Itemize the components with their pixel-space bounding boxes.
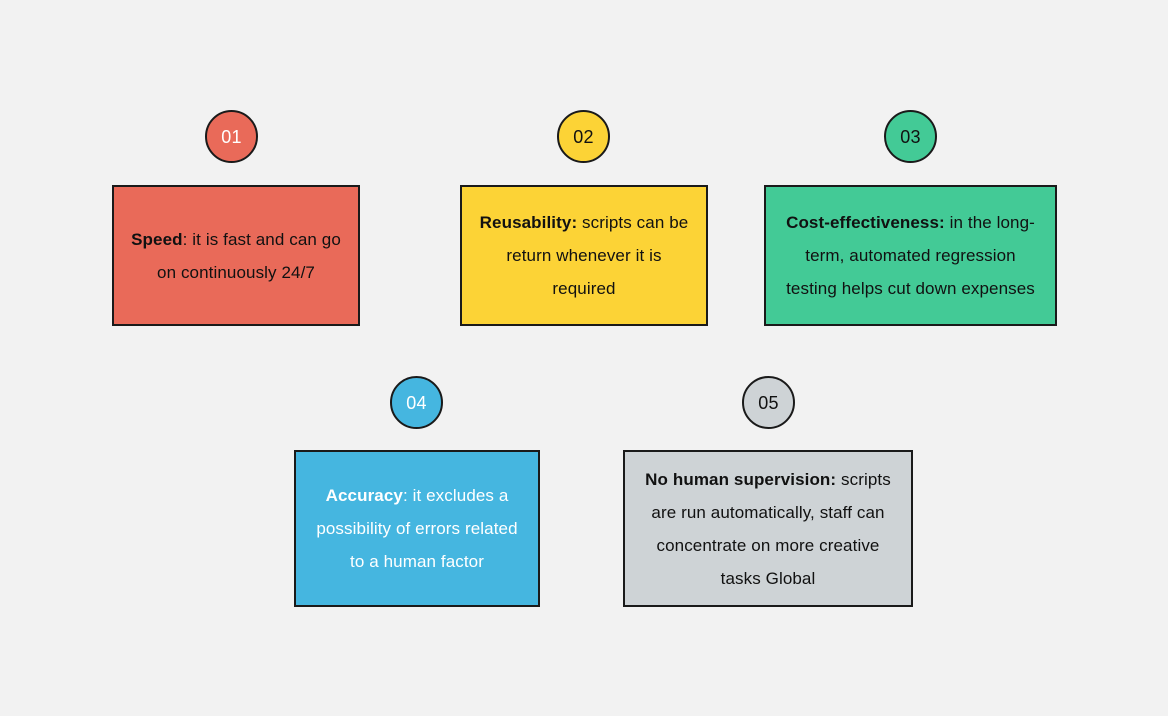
card-02-lead: Reusability bbox=[480, 213, 572, 232]
diagram-canvas: 01 Speed: it is fast and can go on conti… bbox=[0, 0, 1168, 716]
card-02[interactable]: Reusability: scripts can be return whene… bbox=[460, 185, 708, 326]
badge-02-label: 02 bbox=[573, 128, 593, 146]
card-04[interactable]: Accuracy: it excludes a possibility of e… bbox=[294, 450, 540, 607]
badge-05-label: 05 bbox=[758, 394, 778, 412]
card-01[interactable]: Speed: it is fast and can go on continuo… bbox=[112, 185, 360, 326]
card-03[interactable]: Cost-effectiveness: in the long-term, au… bbox=[764, 185, 1057, 326]
badge-05[interactable]: 05 bbox=[742, 376, 795, 429]
badge-02[interactable]: 02 bbox=[557, 110, 610, 163]
badge-03[interactable]: 03 bbox=[884, 110, 937, 163]
card-04-lead: Accuracy bbox=[326, 486, 403, 505]
card-04-text: Accuracy: it excludes a possibility of e… bbox=[308, 479, 526, 578]
badge-03-label: 03 bbox=[900, 128, 920, 146]
card-03-text: Cost-effectiveness: in the long-term, au… bbox=[778, 206, 1043, 305]
badge-01[interactable]: 01 bbox=[205, 110, 258, 163]
card-03-lead: Cost-effectiveness bbox=[786, 213, 939, 232]
badge-04-label: 04 bbox=[406, 394, 426, 412]
card-05-lead: No human supervision: bbox=[645, 470, 836, 489]
card-05[interactable]: No human supervision: scripts are run au… bbox=[623, 450, 913, 607]
badge-01-label: 01 bbox=[221, 128, 241, 146]
badge-04[interactable]: 04 bbox=[390, 376, 443, 429]
card-02-text: Reusability: scripts can be return whene… bbox=[474, 206, 694, 305]
card-01-lead: Speed bbox=[131, 230, 183, 249]
card-01-text: Speed: it is fast and can go on continuo… bbox=[126, 223, 346, 289]
card-05-text: No human supervision: scripts are run au… bbox=[637, 463, 899, 595]
